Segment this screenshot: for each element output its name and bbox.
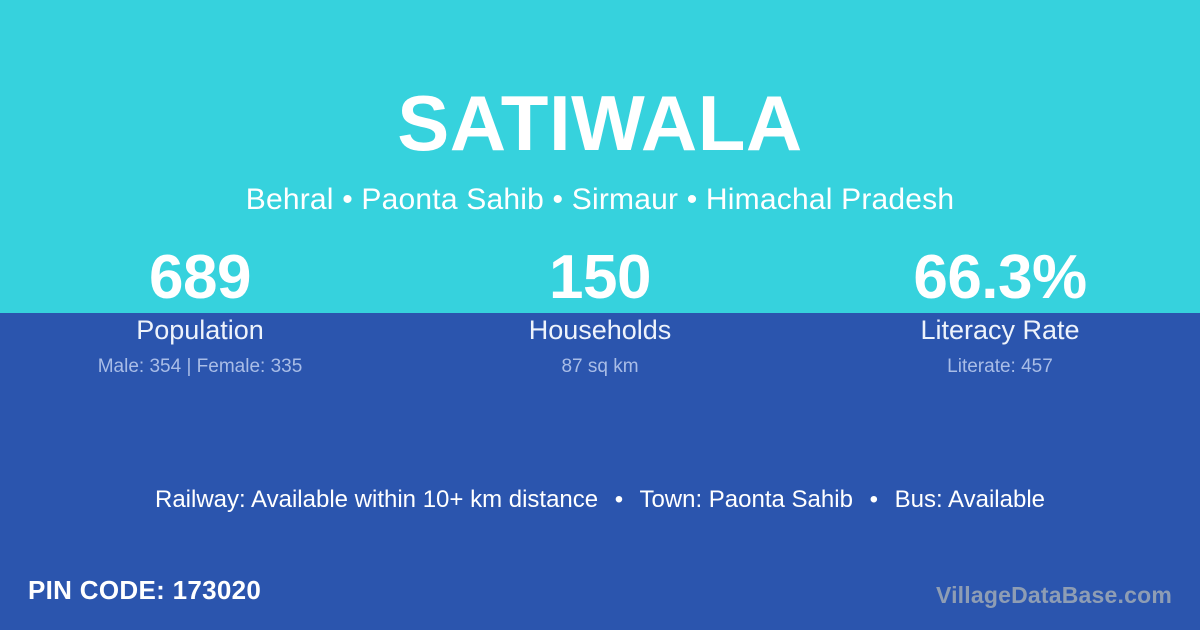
breadcrumb: Behral • Paonta Sahib • Sirmaur • Himach…: [0, 180, 1200, 220]
village-info-card: SATIWALA Behral • Paonta Sahib • Sirmaur…: [0, 0, 1200, 630]
stat-population: 689 Population Male: 354 | Female: 335: [0, 243, 400, 379]
amenity-separator-dot: •: [605, 483, 633, 517]
amenity-separator-dot: •: [860, 483, 888, 517]
stat-literacy-rate: 66.3% Literacy Rate Literate: 457: [800, 243, 1200, 379]
stat-households-label: Households: [400, 314, 800, 346]
stat-households: 150 Households 87 sq km: [400, 243, 800, 379]
amenity-bus: Bus: Available: [895, 486, 1045, 513]
amenity-railway: Railway: Available within 10+ km distanc…: [155, 486, 598, 513]
stat-households-detail: 87 sq km: [400, 355, 800, 379]
stat-literacy-rate-value: 66.3%: [800, 243, 1200, 313]
stats-row: 689 Population Male: 354 | Female: 335 1…: [0, 243, 1200, 379]
stat-population-value: 689: [0, 243, 400, 313]
brand-watermark: VillageDataBase.com: [936, 580, 1172, 610]
stat-population-detail: Male: 354 | Female: 335: [0, 355, 400, 379]
amenities-line: Railway: Available within 10+ km distanc…: [0, 483, 1200, 517]
stat-literacy-rate-detail: Literate: 457: [800, 355, 1200, 379]
stat-literacy-rate-label: Literacy Rate: [800, 314, 1200, 346]
stat-population-label: Population: [0, 314, 400, 346]
amenity-town: Town: Paonta Sahib: [639, 486, 852, 513]
pin-code: PIN CODE: 173020: [28, 573, 261, 607]
page-title: SATIWALA: [0, 78, 1200, 168]
stat-households-value: 150: [400, 243, 800, 313]
